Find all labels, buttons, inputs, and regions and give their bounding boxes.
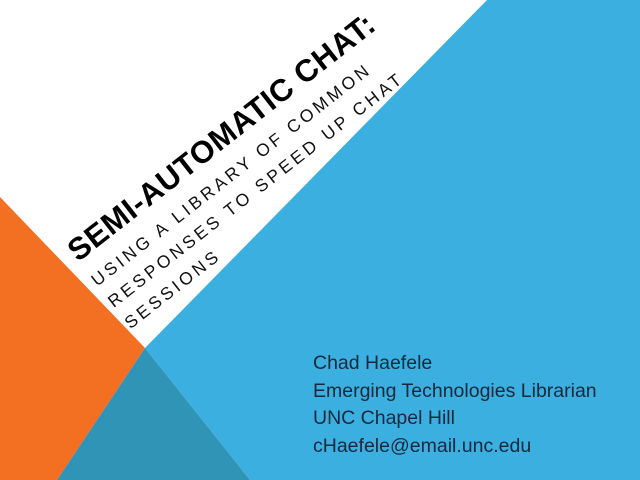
author-affiliation: UNC Chapel Hill <box>313 405 597 433</box>
author-block: Chad Haefele Emerging Technologies Libra… <box>313 350 597 461</box>
author-name: Chad Haefele <box>313 350 597 378</box>
author-role: Emerging Technologies Librarian <box>313 378 597 406</box>
author-email: cHaefele@email.unc.edu <box>313 433 597 461</box>
presentation-title-slide: SEMI-AUTOMATIC CHAT: USING A LIBRARY OF … <box>0 0 640 480</box>
